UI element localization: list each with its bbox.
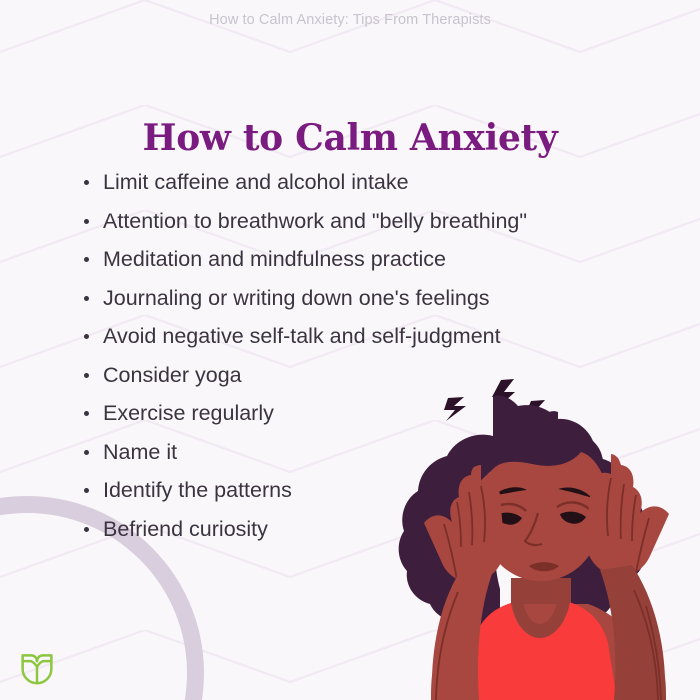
list-item-label: Exercise regularly [103,401,274,425]
page-eyebrow-text: How to Calm Anxiety: Tips From Therapist… [0,12,700,28]
list-item: Exercise regularly [78,394,678,433]
infographic-poster: How to Calm Anxiety: Tips From Therapist… [0,0,700,700]
bullet-dot [84,296,89,301]
list-item: Attention to breathwork and "belly breat… [78,202,678,241]
tips-list: Limit caffeine and alcohol intake Attent… [78,163,678,548]
bullet-dot [84,527,89,532]
list-item: Befriend curiosity [78,510,678,549]
list-item: Name it [78,433,678,472]
list-item: Consider yoga [78,356,678,395]
list-item-label: Consider yoga [103,363,242,387]
list-item: Journaling or writing down one's feeling… [78,279,678,318]
bullet-dot [84,488,89,493]
bullet-dot [84,257,89,262]
bullet-dot [84,334,89,339]
list-item-label: Journaling or writing down one's feeling… [103,286,490,310]
list-item-label: Identify the patterns [103,478,292,502]
list-item-label: Name it [103,440,177,464]
bullet-dot [84,180,89,185]
list-item: Meditation and mindfulness practice [78,240,678,279]
page-title: How to Calm Anxiety [0,117,700,159]
list-item: Limit caffeine and alcohol intake [78,163,678,202]
list-item-label: Befriend curiosity [103,517,268,541]
list-item: Avoid negative self-talk and self-judgme… [78,317,678,356]
bullet-dot [84,450,89,455]
list-item-label: Limit caffeine and alcohol intake [103,170,409,194]
bullet-dot [84,411,89,416]
leaf-lotus-logo [14,642,60,688]
list-item: Identify the patterns [78,471,678,510]
bullet-dot [84,373,89,378]
list-item-label: Avoid negative self-talk and self-judgme… [103,324,501,348]
list-item-label: Attention to breathwork and "belly breat… [103,209,527,233]
bullet-dot [84,219,89,224]
list-item-label: Meditation and mindfulness practice [103,247,446,271]
